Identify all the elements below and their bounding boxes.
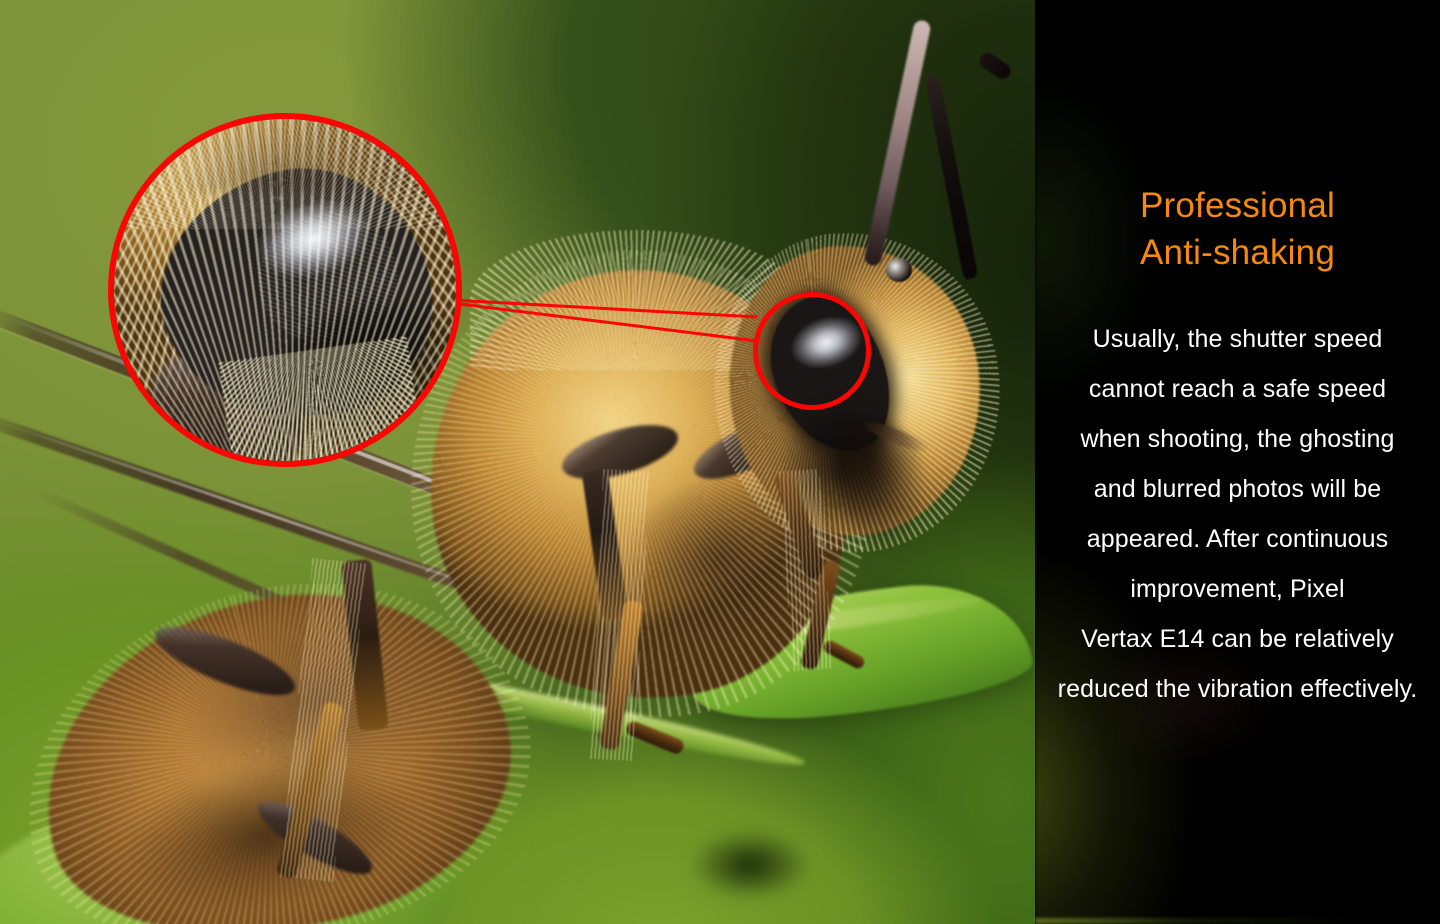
bee-leg-front-hair <box>779 469 833 671</box>
bee-leg-middle-hair <box>588 469 649 761</box>
feature-description-line-2: cannot reach a safe speed <box>1043 364 1432 414</box>
bee-body-plate-4 <box>250 790 381 886</box>
bee-abdomen <box>7 548 543 924</box>
leaf-foreground-left <box>0 763 471 924</box>
bee-mandible <box>862 417 932 456</box>
text-panel-content: Professional Anti-shaking Usually, the s… <box>1035 0 1440 924</box>
leaf-shadow <box>690 830 810 900</box>
feature-headline-line-1: Professional <box>1043 182 1432 229</box>
bee-antenna-joint <box>886 258 912 282</box>
bee-body-plate-3 <box>148 613 303 708</box>
bee-wing-third <box>32 487 548 724</box>
bee-leg-middle-foot <box>624 719 685 755</box>
callout-connector-line-top <box>452 300 757 317</box>
feature-description-line-5: appeared. After continuous <box>1043 514 1432 564</box>
bee-leg-middle-upper <box>582 469 629 621</box>
bee-antenna-right-tip <box>976 50 1013 82</box>
bee-abdomen-shadow <box>108 730 433 924</box>
bee-face-shadow <box>825 410 940 556</box>
bee-abdomen-hair <box>0 534 565 924</box>
feature-description-line-3: when shooting, the ghosting <box>1043 414 1432 464</box>
magnified-top-hair <box>108 113 462 229</box>
bee-eye-shadow <box>778 400 908 530</box>
bee-body-plate-1 <box>556 414 683 489</box>
magnifier-circle <box>108 113 462 467</box>
bee-macro-photo <box>0 0 1035 924</box>
callout-connector-line-bottom <box>452 303 757 341</box>
bee-leg-front-upper <box>773 470 826 581</box>
plant-stalk <box>596 560 631 741</box>
bee-thorax-hair-top <box>470 230 800 370</box>
bee-antenna-left <box>863 19 932 267</box>
marketing-text-panel: Professional Anti-shaking Usually, the s… <box>1035 0 1440 924</box>
bee-antenna-right <box>925 74 979 281</box>
bee-leg-front-lower <box>800 559 841 670</box>
bee-head-hair <box>699 218 1016 566</box>
leaf-perch-highlight <box>676 591 985 652</box>
bee-body-plate-2 <box>687 409 804 490</box>
leaf-stem <box>333 650 808 775</box>
feature-description: Usually, the shutter speed cannot reach … <box>1043 276 1432 714</box>
feature-description-line-1: Usually, the shutter speed <box>1043 314 1432 364</box>
callout-target-circle <box>753 292 871 410</box>
bee-leg-rear-upper <box>341 559 389 731</box>
feature-headline: Professional Anti-shaking <box>1043 0 1432 276</box>
bee-leg-middle-lower <box>599 599 644 750</box>
leaf-perch <box>684 572 1035 733</box>
bee-leg-rear-lower <box>276 701 345 880</box>
bee-leg-front-foot <box>822 638 867 670</box>
feature-description-line-6: improvement, Pixel <box>1043 564 1432 614</box>
feature-description-line-4: and blurred photos will be <box>1043 464 1432 514</box>
feature-headline-line-2: Anti-shaking <box>1043 229 1432 276</box>
feature-description-line-8: reduced the vibration effectively. <box>1043 664 1432 714</box>
promo-banner: Professional Anti-shaking Usually, the s… <box>0 0 1440 924</box>
magnifier-content <box>108 113 462 467</box>
feature-description-line-7: Vertax E14 can be relatively <box>1043 614 1432 664</box>
bee-leg-rear-hair <box>279 558 366 882</box>
